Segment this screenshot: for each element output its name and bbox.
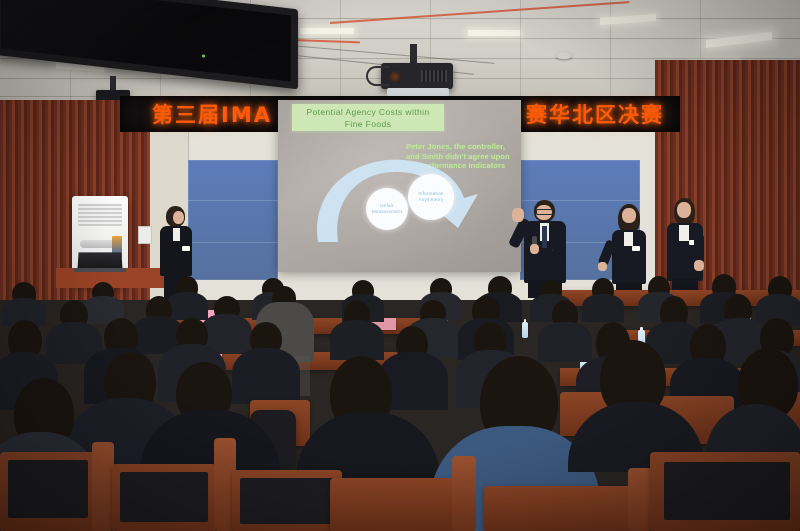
audience-member: [166, 292, 208, 320]
laptop-base: [74, 268, 126, 272]
seat-armrest: [628, 468, 652, 531]
seat-cushion: [120, 472, 208, 522]
wall-socket: [138, 226, 152, 244]
audience-member: [538, 322, 592, 362]
slide-title-line2: Fine Foods: [292, 119, 444, 130]
necktie: [542, 226, 547, 248]
slide-callout-label-1: Unfair Measurement: [366, 203, 408, 215]
slide-title-box: Potential Agency Costs within Fine Foods: [292, 104, 444, 131]
conference-photo-scene: 第三届IMA（ 赛华北区决赛 Potential Agency Costs wi…: [0, 0, 800, 531]
wall-panel-blue-left: [188, 160, 278, 280]
audience-member: [232, 348, 300, 404]
seat-cushion: [664, 462, 790, 520]
seat-cushion: [240, 478, 334, 524]
projection-screen: Potential Agency Costs within Fine Foods…: [278, 100, 521, 272]
projector-lens-icon: [389, 71, 401, 82]
ceiling-light: [600, 14, 656, 25]
projector-cable: [366, 66, 390, 86]
slide-callout-label-2: Information Asymmetry: [408, 191, 454, 203]
audience-member: [582, 294, 624, 322]
seat-cushion: [8, 460, 88, 518]
ceiling-light: [706, 32, 772, 48]
led-banner-text-left: 第三届IMA（: [152, 99, 295, 129]
auditorium-seat: [330, 478, 460, 531]
slide-title-line1: Potential Agency Costs within: [292, 107, 444, 118]
seat-armrest: [92, 442, 114, 531]
eyeglasses-icon: [536, 209, 553, 215]
led-banner-text-right: 赛华北区决赛: [526, 99, 664, 129]
projector-plate: [387, 88, 449, 96]
ceiling-projector: [381, 63, 453, 89]
auditorium-seat: [484, 486, 634, 531]
smoke-detector-icon: [556, 52, 572, 59]
slide-callout-circle-1: Unfair Measurement: [366, 188, 408, 230]
power-led-icon: [202, 54, 205, 57]
seat-armrest: [452, 456, 476, 531]
slide-callout-circle-2: Information Asymmetry: [408, 174, 454, 220]
audience-member: [330, 320, 384, 360]
ceiling-light: [300, 28, 354, 34]
ceiling-light: [468, 30, 520, 36]
water-bottle: [522, 322, 528, 338]
